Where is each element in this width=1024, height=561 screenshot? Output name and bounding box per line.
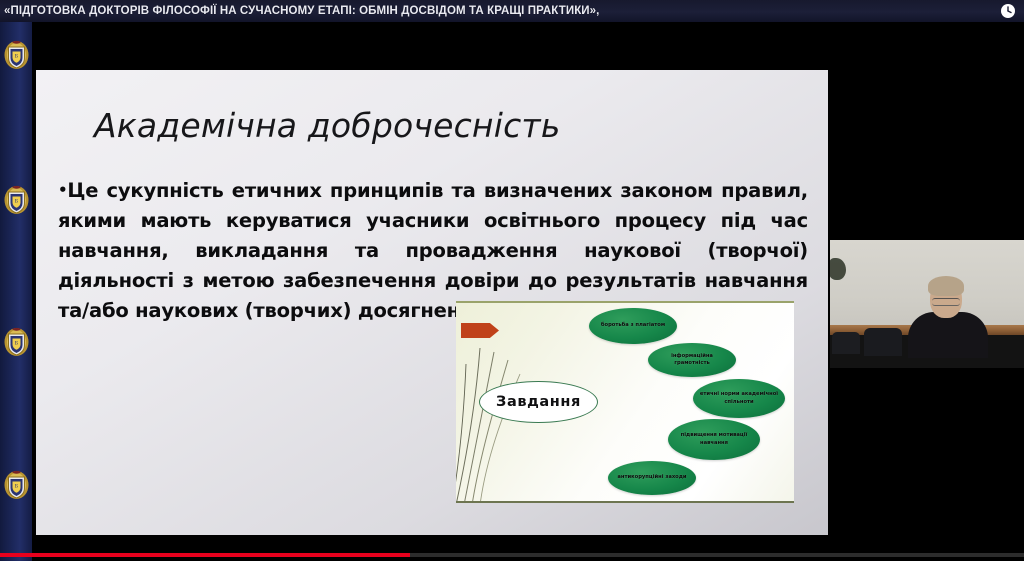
playback-progress-track[interactable] (0, 553, 1024, 557)
diagram-node-label: антикорупційні заходи (611, 474, 692, 482)
playback-progress-fill[interactable] (0, 553, 410, 557)
diagram-node-label: інформаційна грамотність (648, 353, 736, 368)
branding-sidebar: Б Б Б (0, 22, 32, 561)
bullet-marker: • (58, 181, 67, 199)
diagram-node-label: етичні норми академічної спільноти (693, 391, 785, 406)
speaker-video-tile[interactable] (830, 240, 1024, 368)
participant-glasses (932, 298, 960, 306)
svg-text:Б: Б (15, 341, 19, 347)
clock-icon[interactable] (1000, 3, 1016, 19)
embedded-diagram-image: Завдання боротьба з плагіатом інформацій… (456, 301, 794, 503)
diagram-node-label: боротьба з плагіатом (595, 322, 671, 330)
svg-text:Б: Б (15, 199, 19, 205)
diagram-node: етичні норми академічної спільноти (693, 379, 785, 418)
diagram-center-label: Завдання (496, 394, 581, 410)
diagram-node: інформаційна грамотність (648, 343, 736, 377)
university-crest-icon: Б (3, 470, 30, 500)
diagram-node: антикорупційні заходи (608, 461, 696, 495)
slide-title: Академічна доброчесність (94, 106, 561, 145)
diagram-center-node: Завдання (479, 381, 598, 423)
page-title: «ПІДГОТОВКА ДОКТОРІВ ФІЛОСОФІЇ НА СУЧАСН… (0, 5, 599, 17)
plant-decoration (830, 258, 846, 280)
video-player-screen: «ПІДГОТОВКА ДОКТОРІВ ФІЛОСОФІЇ НА СУЧАСН… (0, 0, 1024, 561)
participant-hair (928, 276, 964, 296)
university-crest-icon: Б (3, 327, 30, 357)
diagram-node: боротьба з плагіатом (589, 308, 677, 344)
svg-text:Б: Б (15, 484, 19, 490)
university-crest-icon: Б (3, 40, 30, 70)
university-crest-icon: Б (3, 185, 30, 215)
chair (832, 332, 860, 354)
shared-slide: Академічна доброчесність •Це сукупність … (36, 70, 828, 535)
participant-body (908, 312, 988, 358)
diagram-node: підвищення мотивації навчання (668, 419, 760, 460)
diagram-node-label: підвищення мотивації навчання (668, 432, 760, 447)
chair (864, 328, 902, 356)
title-bar: «ПІДГОТОВКА ДОКТОРІВ ФІЛОСОФІЇ НА СУЧАСН… (0, 0, 1024, 22)
svg-text:Б: Б (15, 54, 19, 60)
